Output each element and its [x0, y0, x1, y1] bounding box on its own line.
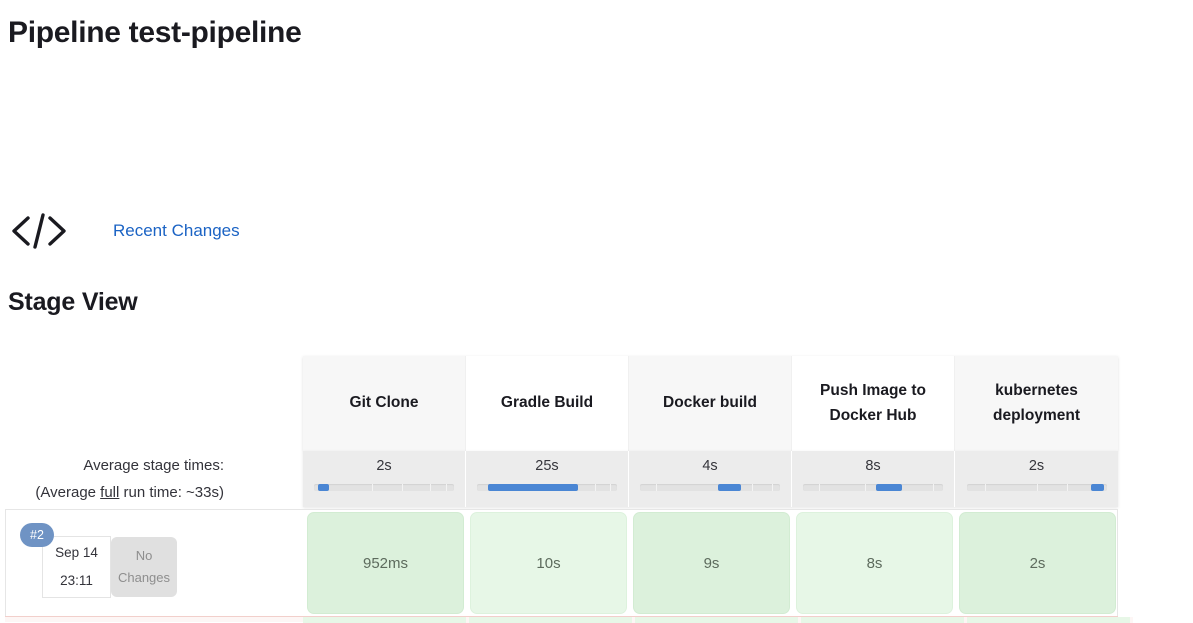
- sparkline-fill: [318, 484, 329, 491]
- stage-header-push-image[interactable]: Push Image to Docker Hub: [792, 356, 955, 451]
- average-cells: 2s 25s 4s 8s: [303, 451, 1118, 507]
- sparkline-gradle-build: [477, 484, 617, 491]
- sparkline-git-clone: [314, 484, 454, 491]
- average-time-git-clone: 2s: [376, 456, 391, 476]
- build-number-badge[interactable]: #2: [20, 523, 54, 547]
- average-cell-gradle-build: 25s: [466, 451, 629, 507]
- stage-duration-kubernetes-deployment[interactable]: 2s: [959, 512, 1116, 614]
- next-build-row-cells: [303, 617, 1133, 623]
- stage-header-gradle-build[interactable]: Gradle Build: [466, 356, 629, 451]
- average-cell-docker-build: 4s: [629, 451, 792, 507]
- average-time-gradle-build: 25s: [535, 456, 558, 476]
- next-row-cell: [303, 617, 469, 623]
- recent-changes-link[interactable]: Recent Changes: [113, 221, 240, 241]
- stage-cell-git-clone: 952ms: [304, 510, 467, 616]
- sparkline-fill: [718, 484, 740, 491]
- average-time-docker-build: 4s: [702, 456, 717, 476]
- table-row: #2 Sep 14 23:11 No Changes 952ms 10s 9s …: [5, 509, 1118, 617]
- stage-header-kubernetes-deployment[interactable]: kubernetes deployment: [955, 356, 1118, 451]
- build-time: 23:11: [60, 567, 93, 595]
- average-time-kubernetes-deployment: 2s: [1029, 456, 1044, 476]
- sparkline-kubernetes-deployment: [967, 484, 1107, 491]
- page-title: Pipeline test-pipeline: [8, 16, 301, 50]
- next-row-cell: [635, 617, 801, 623]
- avg-run-underline: full: [100, 484, 119, 501]
- average-time-push-image: 8s: [865, 456, 880, 476]
- stage-header-docker-build[interactable]: Docker build: [629, 356, 792, 451]
- sparkline-push-image: [803, 484, 943, 491]
- average-stage-times-row: Average stage times: (Average full run t…: [0, 451, 1118, 507]
- average-cell-git-clone: 2s: [303, 451, 466, 507]
- stage-cell-docker-build: 9s: [630, 510, 793, 616]
- next-row-cell: [967, 617, 1133, 623]
- build-timestamp[interactable]: Sep 14 23:11: [42, 536, 111, 598]
- sparkline-fill: [1091, 484, 1104, 491]
- code-icon: [8, 208, 70, 254]
- avg-run-suffix: run time: ~33s): [119, 484, 224, 501]
- average-stage-times-label: Average stage times: (Average full run t…: [0, 451, 224, 506]
- average-stage-times-line1: Average stage times:: [83, 457, 224, 474]
- avg-run-prefix: (Average: [35, 484, 100, 501]
- stage-cell-kubernetes-deployment: 2s: [956, 510, 1119, 616]
- stage-duration-docker-build[interactable]: 9s: [633, 512, 790, 614]
- build-meta: #2 Sep 14 23:11 No Changes: [6, 510, 304, 616]
- stage-duration-git-clone[interactable]: 952ms: [307, 512, 464, 614]
- build-date: Sep 14: [55, 539, 98, 567]
- next-build-row-partial: [5, 616, 1118, 622]
- average-full-run-time-line: (Average full run time: ~33s): [0, 479, 224, 506]
- next-row-cell: [469, 617, 635, 623]
- sparkline-fill: [488, 484, 578, 491]
- stage-cell-push-image: 8s: [793, 510, 956, 616]
- stage-header-git-clone[interactable]: Git Clone: [303, 356, 466, 451]
- next-row-cell: [801, 617, 967, 623]
- sparkline-fill: [876, 484, 903, 491]
- stage-view-heading: Stage View: [8, 288, 138, 317]
- average-cell-kubernetes-deployment: 2s: [955, 451, 1118, 507]
- sparkline-docker-build: [640, 484, 780, 491]
- no-changes-line1: No: [136, 545, 153, 567]
- stage-view-table: Git Clone Gradle Build Docker build Push…: [0, 356, 1193, 622]
- no-changes-button[interactable]: No Changes: [111, 537, 177, 597]
- stage-duration-gradle-build[interactable]: 10s: [470, 512, 627, 614]
- recent-changes-section: Recent Changes: [8, 200, 240, 262]
- stage-header-row: Git Clone Gradle Build Docker build Push…: [303, 356, 1118, 451]
- no-changes-line2: Changes: [118, 567, 170, 589]
- stage-duration-push-image[interactable]: 8s: [796, 512, 953, 614]
- build-stage-cells: 952ms 10s 9s 8s 2s: [304, 510, 1119, 616]
- average-cell-push-image: 8s: [792, 451, 955, 507]
- stage-cell-gradle-build: 10s: [467, 510, 630, 616]
